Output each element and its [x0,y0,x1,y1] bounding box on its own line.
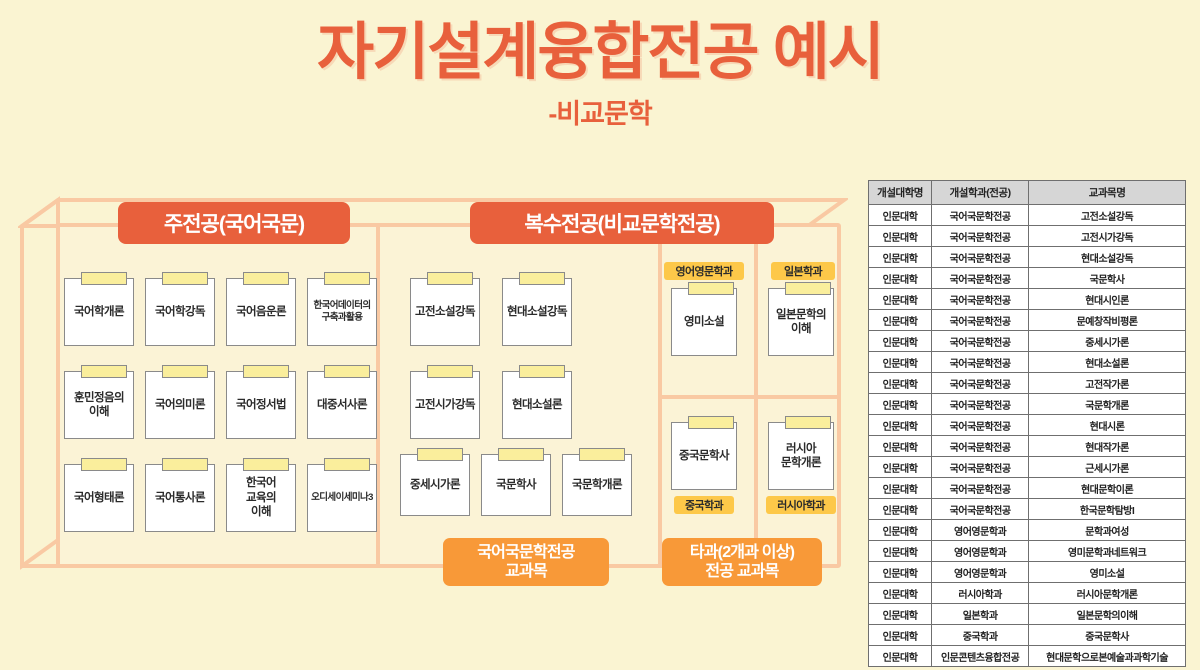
table-cell-college: 인문대학 [869,289,932,310]
table-cell-course: 영미소설 [1029,562,1186,583]
table-cell-department: 국어국문학전공 [932,415,1029,436]
table-row: 인문대학인문콘텐츠융합전공현대문학으로본예술과과학기술 [869,646,1186,667]
table-cell-college: 인문대학 [869,541,932,562]
table-cell-course: 현대시인론 [1029,289,1186,310]
course-card-label: 국어형태론 [74,491,124,505]
table-cell-department: 국어국문학전공 [932,310,1029,331]
caption-korean-literature-label: 국어국문학전공교과목 [477,543,574,581]
dept-chip-label: 일본학과 [784,263,822,279]
table-cell-department: 국어국문학전공 [932,205,1029,226]
table-row: 인문대학국어국문학전공현대시인론 [869,289,1186,310]
course-table: 개설대학명 개설학과(전공) 교과목명 인문대학국어국문학전공고전소설강독인문대… [868,180,1186,667]
section-header-double-major-label: 복수전공(비교문학전공) [524,208,719,238]
course-card-label: 현대소설강독 [507,305,567,319]
course-card-label: 일본문학의이해 [776,308,826,337]
table-cell-college: 인문대학 [869,583,932,604]
table-cell-department: 일본학과 [932,604,1029,625]
course-card[interactable]: 현대소설강독 [502,278,572,346]
course-card-label: 한국어데이터의구축과활용 [314,300,371,324]
dept-chip-label: 러시아학과 [777,497,825,513]
table-header-course: 교과목명 [1029,181,1186,205]
course-table-head: 개설대학명 개설학과(전공) 교과목명 [869,181,1186,205]
dept-chip-english: 영어영문학과 [664,262,744,280]
table-header-college: 개설대학명 [869,181,932,205]
table-cell-course: 현대소설론 [1029,352,1186,373]
course-card[interactable]: 영미소설 [671,288,737,356]
card-tab-icon [688,282,734,295]
table-row: 인문대학국어국문학전공국문학개론 [869,394,1186,415]
table-cell-college: 인문대학 [869,394,932,415]
course-card-label: 국어음운론 [236,305,286,319]
table-cell-department: 국어국문학전공 [932,457,1029,478]
card-tab-icon [243,272,289,285]
course-card[interactable]: 국어음운론 [226,278,296,346]
course-card[interactable]: 국문학개론 [562,454,632,516]
table-row: 인문대학국어국문학전공고전작가론 [869,373,1186,394]
table-row: 인문대학국어국문학전공국문학사 [869,268,1186,289]
course-card[interactable]: 국어의미론 [145,371,215,439]
course-card-label: 현대소설론 [512,398,562,412]
table-cell-course: 현대문학으로본예술과과학기술 [1029,646,1186,667]
table-cell-course: 현대문학이론 [1029,478,1186,499]
table-row: 인문대학국어국문학전공중세시가론 [869,331,1186,352]
course-card[interactable]: 국문학사 [481,454,551,516]
card-tab-icon [81,365,127,378]
page-title: 자기설계융합전공 예시 [0,22,1200,84]
table-cell-course: 문예창작비평론 [1029,310,1186,331]
course-card-label: 국문학개론 [572,478,622,492]
table-cell-department: 영어영문학과 [932,541,1029,562]
course-card[interactable]: 국어형태론 [64,464,134,532]
course-card-label: 훈민정음의이해 [74,391,124,420]
card-tab-icon [162,458,208,471]
caption-korean-literature: 국어국문학전공교과목 [443,538,609,586]
course-table-body: 인문대학국어국문학전공고전소설강독인문대학국어국문학전공고전시가강독인문대학국어… [869,205,1186,667]
table-cell-college: 인문대학 [869,625,932,646]
panel-divider-horizontal [658,395,841,399]
card-tab-icon [688,416,734,429]
table-cell-department: 국어국문학전공 [932,352,1029,373]
table-cell-course: 고전시가강독 [1029,226,1186,247]
table-row: 인문대학영어영문학과문학과여성 [869,520,1186,541]
table-cell-college: 인문대학 [869,310,932,331]
table-cell-course: 현대시론 [1029,415,1186,436]
course-card-label: 오디세이세미나3 [311,492,373,504]
course-card[interactable]: 훈민정음의이해 [64,371,134,439]
table-cell-course: 국문학사 [1029,268,1186,289]
table-cell-college: 인문대학 [869,478,932,499]
section-header-major-label: 주전공(국어국문) [164,208,304,238]
card-tab-icon [519,272,565,285]
table-cell-college: 인문대학 [869,646,932,667]
course-card[interactable]: 고전시가강독 [410,371,480,439]
table-row: 인문대학국어국문학전공문예창작비평론 [869,310,1186,331]
card-tab-icon [243,458,289,471]
table-row: 인문대학국어국문학전공고전시가강독 [869,226,1186,247]
card-tab-icon [417,448,463,461]
table-row: 인문대학일본학과일본문학의이해 [869,604,1186,625]
course-card-label: 국문학사 [496,478,536,492]
course-card-label: 국어통사론 [155,491,205,505]
course-card-label: 중세시가론 [410,478,460,492]
card-tab-icon [324,272,370,285]
course-card[interactable]: 러시아문학개론 [768,422,834,490]
table-cell-course: 현대소설강독 [1029,247,1186,268]
table-cell-college: 인문대학 [869,436,932,457]
dept-chip-chinese: 중국학과 [674,496,734,514]
table-cell-course: 한국문학탐방I [1029,499,1186,520]
card-tab-icon [427,365,473,378]
table-cell-college: 인문대학 [869,352,932,373]
course-card-label: 국어의미론 [155,398,205,412]
card-tab-icon [785,416,831,429]
course-card[interactable]: 국어통사론 [145,464,215,532]
course-card[interactable]: 현대소설론 [502,371,572,439]
card-tab-icon [324,458,370,471]
table-row: 인문대학러시아학과러시아문학개론 [869,583,1186,604]
course-card-label: 국어학개론 [74,305,124,319]
table-cell-college: 인문대학 [869,457,932,478]
page-subtitle: -비교문학 [0,92,1200,131]
table-cell-course: 근세시가론 [1029,457,1186,478]
course-card[interactable]: 고전소설강독 [410,278,480,346]
table-row: 인문대학국어국문학전공현대문학이론 [869,478,1186,499]
card-tab-icon [324,365,370,378]
table-row: 인문대학국어국문학전공고전소설강독 [869,205,1186,226]
card-tab-icon [785,282,831,295]
course-card[interactable]: 국어학개론 [64,278,134,346]
course-card-label: 고전시가강독 [415,398,475,412]
course-card[interactable]: 중세시가론 [400,454,470,516]
card-tab-icon [243,365,289,378]
table-cell-department: 국어국문학전공 [932,289,1029,310]
table-row: 인문대학영어영문학과영미소설 [869,562,1186,583]
table-cell-college: 인문대학 [869,415,932,436]
table-cell-course: 영미문학과네트워크 [1029,541,1186,562]
course-card-label: 한국어교육의이해 [246,476,276,519]
caption-other-departments: 타과(2개과 이상)전공 교과목 [662,538,822,586]
table-row: 인문대학국어국문학전공현대작가론 [869,436,1186,457]
table-cell-course: 중세시가론 [1029,331,1186,352]
card-tab-icon [498,448,544,461]
course-card-label: 중국문학사 [679,449,729,463]
table-cell-college: 인문대학 [869,562,932,583]
card-tab-icon [162,272,208,285]
table-cell-department: 러시아학과 [932,583,1029,604]
table-row: 인문대학국어국문학전공현대소설강독 [869,247,1186,268]
table-cell-college: 인문대학 [869,373,932,394]
dept-chip-japanese: 일본학과 [771,262,835,280]
table-cell-department: 국어국문학전공 [932,436,1029,457]
table-cell-department: 영어영문학과 [932,562,1029,583]
course-table-container: 개설대학명 개설학과(전공) 교과목명 인문대학국어국문학전공고전소설강독인문대… [868,180,1186,667]
table-cell-department: 국어국문학전공 [932,478,1029,499]
table-cell-department: 중국학과 [932,625,1029,646]
course-card[interactable]: 대중서사론 [307,371,377,439]
table-row: 인문대학국어국문학전공현대소설론 [869,352,1186,373]
table-header-department: 개설학과(전공) [932,181,1029,205]
course-card[interactable]: 일본문학의이해 [768,288,834,356]
dept-chip-label: 영어영문학과 [675,263,732,279]
dept-chip-label: 중국학과 [685,497,723,513]
course-card[interactable]: 한국어교육의이해 [226,464,296,532]
course-card-label: 대중서사론 [317,398,367,412]
table-cell-course: 중국문학사 [1029,625,1186,646]
table-header-row: 개설대학명 개설학과(전공) 교과목명 [869,181,1186,205]
table-cell-college: 인문대학 [869,205,932,226]
caption-other-departments-label: 타과(2개과 이상)전공 교과목 [690,543,794,581]
course-card[interactable]: 국어정서법 [226,371,296,439]
table-cell-department: 국어국문학전공 [932,331,1029,352]
course-card[interactable]: 중국문학사 [671,422,737,490]
table-cell-course: 문학과여성 [1029,520,1186,541]
table-cell-college: 인문대학 [869,226,932,247]
table-cell-course: 고전작가론 [1029,373,1186,394]
table-cell-department: 영어영문학과 [932,520,1029,541]
table-cell-department: 국어국문학전공 [932,247,1029,268]
course-card-label: 러시아문학개론 [781,442,821,471]
table-row: 인문대학국어국문학전공현대시론 [869,415,1186,436]
table-cell-department: 인문콘텐츠융합전공 [932,646,1029,667]
table-cell-course: 고전소설강독 [1029,205,1186,226]
table-cell-college: 인문대학 [869,268,932,289]
table-row: 인문대학국어국문학전공근세시가론 [869,457,1186,478]
course-card-label: 국어학강독 [155,305,205,319]
course-card[interactable]: 한국어데이터의구축과활용 [307,278,377,346]
curriculum-diagram: 주전공(국어국문) 복수전공(비교문학전공) 국어학개론 국어학강독 국어음운론… [18,196,848,596]
table-cell-course: 현대작가론 [1029,436,1186,457]
table-cell-college: 인문대학 [869,604,932,625]
card-tab-icon [579,448,625,461]
table-cell-department: 국어국문학전공 [932,373,1029,394]
table-cell-college: 인문대학 [869,520,932,541]
table-cell-course: 국문학개론 [1029,394,1186,415]
course-card-label: 국어정서법 [236,398,286,412]
table-row: 인문대학국어국문학전공한국문학탐방I [869,499,1186,520]
table-cell-college: 인문대학 [869,247,932,268]
table-row: 인문대학영어영문학과영미문학과네트워크 [869,541,1186,562]
table-cell-course: 러시아문학개론 [1029,583,1186,604]
card-tab-icon [81,458,127,471]
card-tab-icon [427,272,473,285]
table-cell-college: 인문대학 [869,331,932,352]
course-card-label: 고전소설강독 [415,305,475,319]
title-block: 자기설계융합전공 예시 -비교문학 [0,22,1200,131]
table-cell-department: 국어국문학전공 [932,268,1029,289]
course-card[interactable]: 국어학강독 [145,278,215,346]
card-tab-icon [519,365,565,378]
table-cell-department: 국어국문학전공 [932,499,1029,520]
table-cell-department: 국어국문학전공 [932,394,1029,415]
card-tab-icon [81,272,127,285]
table-cell-department: 국어국문학전공 [932,226,1029,247]
section-header-major: 주전공(국어국문) [118,202,350,244]
dept-chip-russian: 러시아학과 [766,496,836,514]
card-tab-icon [162,365,208,378]
course-card[interactable]: 오디세이세미나3 [307,464,377,532]
section-header-double-major: 복수전공(비교문학전공) [470,202,774,244]
table-cell-college: 인문대학 [869,499,932,520]
course-card-label: 영미소설 [684,315,724,329]
table-cell-course: 일본문학의이해 [1029,604,1186,625]
table-row: 인문대학중국학과중국문학사 [869,625,1186,646]
